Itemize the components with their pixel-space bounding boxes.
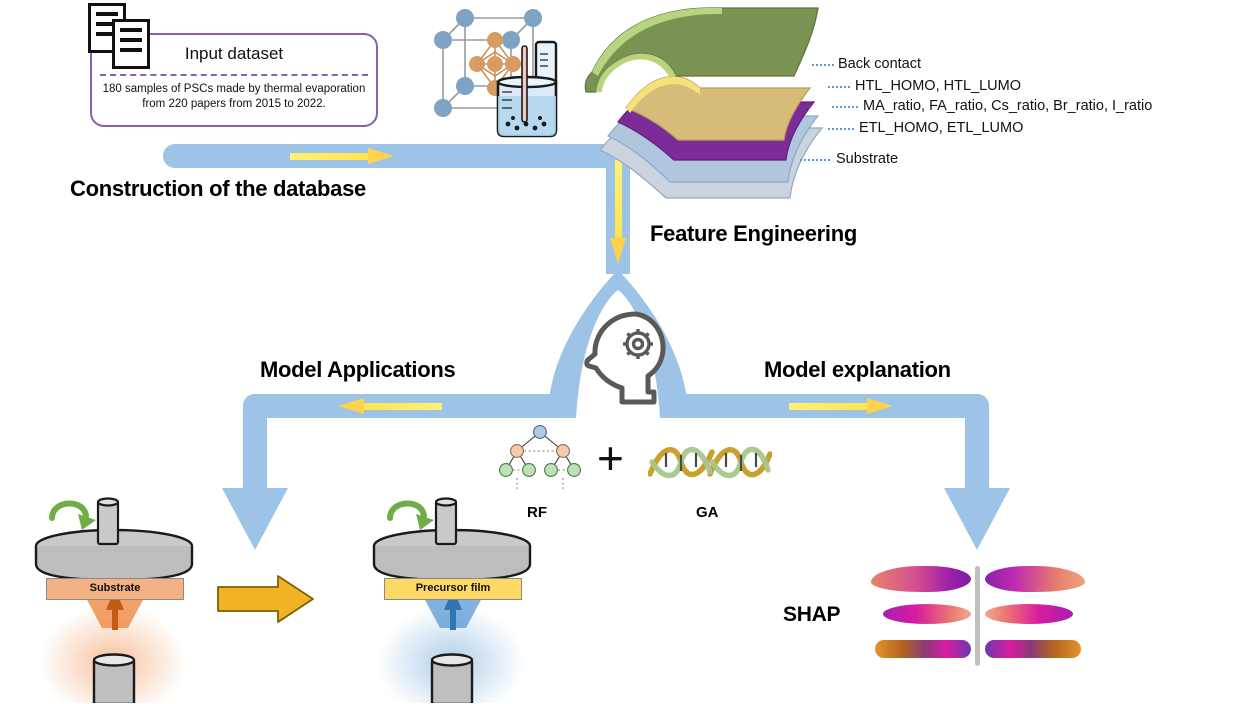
layer-back-contact: [585, 8, 818, 92]
lead-line-perovskite: [832, 106, 858, 108]
substrate-bar-label: Substrate: [47, 582, 183, 594]
documents-icon: [88, 3, 150, 65]
feature-label-etl: ETL_HOMO, ETL_LUMO: [859, 120, 1023, 136]
card-divider: [100, 74, 368, 76]
heading-model-explanation: Model explanation: [764, 357, 951, 383]
spindle: [98, 502, 118, 544]
shap-row-1-left: [871, 566, 971, 592]
head-with-gear-icon: [578, 308, 670, 408]
beaker-icon: [490, 38, 570, 138]
thermal-evaporation-precursor: Precursor film: [348, 488, 558, 703]
yellow-arrow-left: [338, 398, 442, 414]
yellow-arrow-right-top: [290, 148, 394, 164]
heading-construction-of-database: Construction of the database: [70, 176, 366, 202]
precursor-film-bar-label: Precursor film: [385, 582, 521, 594]
rotation-arrow: [390, 503, 434, 530]
label-ga: GA: [696, 504, 719, 521]
yellow-arrow-right-branch: [789, 398, 893, 414]
ribbon-right-down: [965, 394, 989, 492]
holder-body: [374, 546, 530, 580]
plus-operator: +: [597, 435, 624, 481]
shap-center-axis: [975, 566, 980, 666]
feature-label-back-contact: Back contact: [838, 56, 921, 72]
heading-model-applications: Model Applications: [260, 357, 455, 383]
lead-line-etl: [828, 128, 854, 130]
thermal-evaporation-substrate: Substrate: [10, 488, 220, 703]
holder-body: [36, 546, 192, 580]
substrate-bar: Substrate: [46, 578, 184, 600]
rotation-arrow: [52, 503, 96, 530]
shap-row-3-left: [875, 640, 971, 658]
lead-line-htl: [828, 86, 850, 88]
feature-label-perovskite: MA_ratio, FA_ratio, Cs_ratio, Br_ratio, …: [863, 98, 1152, 114]
lead-line-back-contact: [812, 64, 834, 66]
shap-row-2-right: [985, 604, 1073, 624]
input-dataset-description: 180 samples of PSCs made by thermal evap…: [98, 82, 370, 112]
spindle: [436, 502, 456, 544]
shap-row-3-right: [985, 640, 1081, 658]
arrowhead-right-down: [944, 488, 1010, 550]
lead-line-substrate: [800, 159, 830, 161]
workflow-diagram: Input dataset 180 samples of PSCs made b…: [0, 0, 1252, 704]
precursor-film-bar: Precursor film: [384, 578, 522, 600]
shap-row-2-left: [883, 604, 971, 624]
shap-summary-plot: [865, 560, 1090, 670]
orange-transition-arrow: [216, 573, 316, 625]
decision-tree-icon: [498, 424, 582, 496]
feature-label-htl: HTL_HOMO, HTL_LUMO: [855, 78, 1021, 94]
device-layer-stack: [570, 0, 850, 210]
ribbon-top-horizontal: [163, 144, 630, 168]
dna-helix-icon: [648, 440, 772, 484]
shap-row-1-right: [985, 566, 1085, 592]
feature-label-substrate: Substrate: [836, 151, 898, 167]
arrowhead-left-down: [222, 488, 288, 550]
heading-shap: SHAP: [783, 603, 840, 627]
ribbon-left-down: [243, 394, 267, 492]
heading-feature-engineering: Feature Engineering: [650, 221, 857, 247]
